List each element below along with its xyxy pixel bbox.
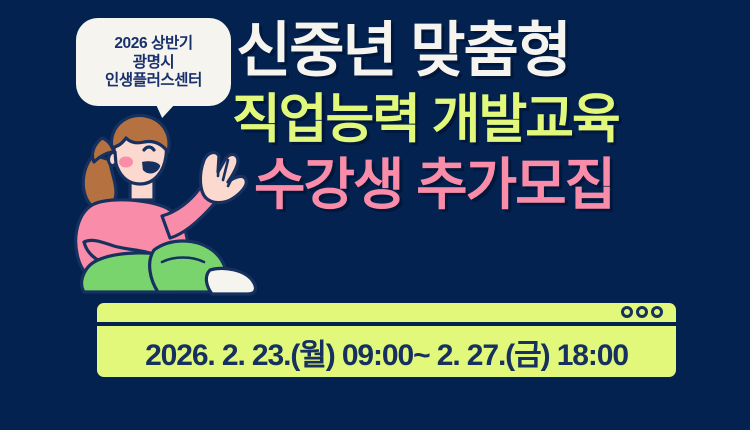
headline-block: 신중년 맞춤형 직업능력 개발교육 수강생 추가모집: [232, 22, 702, 213]
headline-line-2: 직업능력 개발교육: [232, 94, 702, 146]
badge-body: 2026 상반기 광명시 인생플러스센터: [76, 18, 231, 106]
organization-badge: 2026 상반기 광명시 인생플러스센터: [76, 18, 231, 106]
headline-line-3: 수강생 추가모집: [254, 158, 702, 213]
date-panel-body: 2026. 2. 23.(월) 09:00~ 2. 27.(금) 18:00: [97, 326, 676, 377]
date-panel-top-strip: [97, 303, 676, 322]
application-period-text: 2026. 2. 23.(월) 09:00~ 2. 27.(금) 18:00: [145, 330, 628, 374]
badge-line-2: 광명시: [133, 54, 175, 72]
shoe: [206, 268, 255, 294]
headline-line-1: 신중년 맞춤형: [236, 22, 702, 81]
dot-icon-1: [621, 306, 633, 318]
poster-canvas: 2026 상반기 광명시 인생플러스센터 신중년 맞춤형 직업능력 개발교육 수…: [0, 0, 750, 430]
dot-icon-2: [636, 306, 648, 318]
cheek-blush: [119, 157, 133, 168]
decorative-dots: [621, 306, 663, 318]
badge-line-3: 인생플러스센터: [105, 72, 202, 90]
seated-woman-illustration: [58, 100, 268, 300]
date-panel: 2026. 2. 23.(월) 09:00~ 2. 27.(금) 18:00: [97, 303, 676, 377]
dot-icon-3: [651, 306, 663, 318]
badge-line-1: 2026 상반기: [114, 35, 192, 53]
